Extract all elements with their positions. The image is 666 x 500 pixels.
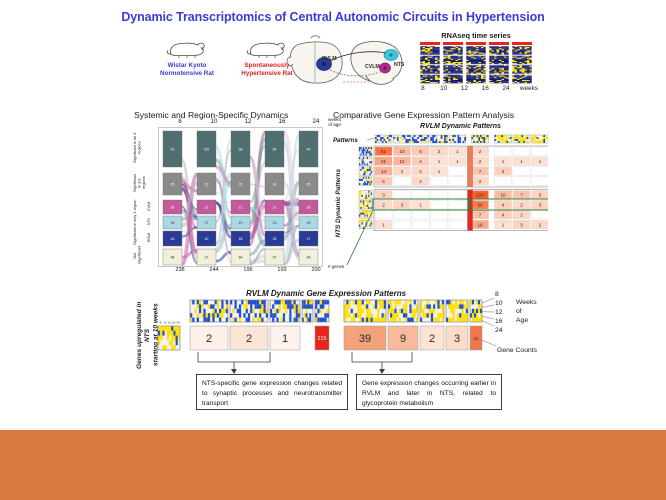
patterns-leader-line xyxy=(367,138,374,140)
matrix-cell[interactable] xyxy=(412,191,429,200)
matrix-cell-value: 2 xyxy=(401,169,404,174)
sankey-node-value: 47 xyxy=(273,255,277,259)
weeks-axis-tick: 8 xyxy=(495,291,499,298)
rnaseq-column xyxy=(489,42,509,84)
gene-count-cell[interactable]: 3 xyxy=(446,326,468,350)
gene-count-value: 2 xyxy=(246,333,252,345)
rat-icon xyxy=(165,38,209,60)
sankey-node[interactable]: 35 xyxy=(163,173,182,195)
matrix-cell[interactable]: 21 xyxy=(375,157,392,166)
sankey-gene-total: 238 xyxy=(168,267,192,273)
matrix-cell[interactable] xyxy=(394,177,411,186)
matrix-cell[interactable]: 1 xyxy=(513,157,530,166)
sankey-node-value: 35 xyxy=(171,182,175,186)
rnaseq-heatmap xyxy=(512,46,532,84)
matrix-cell[interactable] xyxy=(394,191,411,200)
matrix-cell[interactable]: 5 xyxy=(375,177,392,186)
sankey-week-tick: 16 xyxy=(272,118,292,125)
thumb-tick: 16 xyxy=(172,321,176,325)
sankey-node[interactable]: 12 xyxy=(197,200,216,214)
rnaseq-heatmap xyxy=(443,46,463,84)
matrix-cell-value: 2 xyxy=(438,149,441,154)
matrix-cell[interactable]: 1 xyxy=(532,157,549,166)
sankey-node[interactable]: 48 xyxy=(163,249,182,265)
sankey-node[interactable]: 28 xyxy=(299,200,318,214)
sankey-node-value: 18 xyxy=(239,237,243,241)
pattern-thumbnail xyxy=(359,191,372,200)
weeks-title-line: Age xyxy=(516,317,528,324)
matrix-cell[interactable]: 1 xyxy=(412,201,429,210)
rnaseq-tick: 16 xyxy=(476,85,494,92)
matrix-cell[interactable]: 2 xyxy=(431,147,448,156)
brain-diagram: RVLM CVLM NTS xyxy=(286,30,408,96)
sankey-node[interactable]: 46 xyxy=(299,249,318,265)
matrix-cell[interactable] xyxy=(449,220,466,229)
gene-counts-label: Gene Counts xyxy=(497,347,537,354)
pattern-thumbnail xyxy=(513,135,530,143)
matrix-cell[interactable] xyxy=(449,210,466,219)
matrix-cell[interactable]: 2 xyxy=(375,201,392,210)
sankey-node-value: 19 xyxy=(307,221,311,225)
matrix-cell[interactable]: 1 xyxy=(431,167,448,176)
page-title: Dynamic Transcriptomics of Central Auton… xyxy=(0,10,666,24)
matrix-cell[interactable] xyxy=(532,177,549,186)
matrix-cell[interactable] xyxy=(431,177,448,186)
pattern-thumbnail xyxy=(359,177,372,186)
weeks-title-line: of xyxy=(516,308,522,315)
matrix-cell-value: 1 xyxy=(456,149,459,154)
sankey-week-tick: 10 xyxy=(204,118,224,125)
rnaseq-tick: 12 xyxy=(456,85,474,92)
sankey-node-value: 44 xyxy=(307,147,311,151)
matrix-cell[interactable]: 12 xyxy=(394,157,411,166)
sankey-node-value: 31 xyxy=(273,205,277,209)
matrix-cell[interactable]: 61 xyxy=(375,147,392,156)
gene-count-total-left[interactable]: 215 xyxy=(315,326,329,350)
sankey-node[interactable]: 36 xyxy=(163,200,182,214)
sankey-node[interactable]: 40 xyxy=(197,231,216,246)
matrix-cell[interactable]: 1 xyxy=(495,157,512,166)
matrix-cell[interactable] xyxy=(412,210,429,219)
sankey-node-value: 36 xyxy=(171,205,175,209)
sankey-category-label: Significant in all 3 regions xyxy=(133,130,142,166)
pattern-thumbnail xyxy=(375,135,392,143)
sankey-node-value: 40 xyxy=(205,237,209,241)
sankey-node-value: 27 xyxy=(205,221,209,225)
comparative-matrix-panel: RVLM Dynamic Patterns Patterns NTS Dynam… xyxy=(333,123,548,268)
sankey-node[interactable]: 60 xyxy=(265,131,284,167)
matrix-cell-value: 3 xyxy=(401,203,404,208)
matrix-cell-value: 1 xyxy=(438,159,441,164)
sankey-node-value: 34 xyxy=(171,221,175,225)
rnaseq-column-cap xyxy=(512,42,532,45)
sankey-link xyxy=(284,238,299,241)
rnaseq-tick: 24 xyxy=(497,85,515,92)
sankey-node[interactable]: 13 xyxy=(265,216,284,229)
matrix-cell[interactable]: 2 xyxy=(472,177,489,186)
gene-count-cell[interactable]: 2 xyxy=(230,326,268,350)
thumb-tick: 8 xyxy=(160,321,162,325)
matrix-cell[interactable] xyxy=(412,220,429,229)
sankey-node[interactable]: 42 xyxy=(163,131,182,167)
pattern-thumbnail xyxy=(532,135,549,143)
matrix-cell[interactable]: 50 xyxy=(472,201,489,210)
expression-pattern-block xyxy=(190,300,228,322)
gene-count-cell[interactable]: 39 xyxy=(344,326,386,350)
matrix-cell[interactable] xyxy=(431,201,448,210)
sankey-node[interactable]: 21 xyxy=(231,200,250,214)
matrix-cell-value: 2 xyxy=(479,149,482,154)
gene-count-value: 2 xyxy=(206,333,212,345)
pattern-thumbnail xyxy=(359,167,372,176)
matrix-cell[interactable]: 2 xyxy=(513,210,530,219)
matrix-cell[interactable] xyxy=(431,210,448,219)
pattern-thumbnail xyxy=(431,135,448,143)
sankey-diagram: 4215268604435223224253612213128342719131… xyxy=(158,127,323,267)
matrix-cell[interactable]: 4 xyxy=(495,201,512,210)
weeks-title-line: Weeks xyxy=(516,299,537,306)
expression-pattern-block xyxy=(158,326,180,350)
matrix-cell[interactable] xyxy=(495,177,512,186)
footer-banner: PHYSIOLOGICAL GENOMICS © 2024 american p… xyxy=(0,430,666,500)
matrix-cell[interactable]: 5 xyxy=(412,147,429,156)
matrix-cell[interactable]: 10 xyxy=(394,147,411,156)
matrix-cell[interactable]: 7 xyxy=(472,210,489,219)
thumb-tick: 12 xyxy=(168,321,172,325)
nts-reference-thumbnail: 810121624 xyxy=(158,321,180,351)
gene-count-cell[interactable]: 2 xyxy=(420,326,444,350)
matrix-cell[interactable]: 10 xyxy=(495,191,512,200)
matrix-cell[interactable] xyxy=(375,210,392,219)
matrix-cell[interactable]: 7 xyxy=(513,191,530,200)
matrix-cell-value: 1 xyxy=(438,169,441,174)
rnaseq-axis: 810121624weeks xyxy=(414,85,538,92)
matrix-cell-value: 4 xyxy=(502,203,505,208)
matrix-cell[interactable] xyxy=(431,191,448,200)
thumb-tick: 10 xyxy=(163,321,167,325)
sankey-node-value: 27 xyxy=(205,255,209,259)
sankey-node[interactable]: 34 xyxy=(163,216,182,229)
matrix-cell[interactable] xyxy=(532,210,549,219)
matrix-cell-value: 7 xyxy=(520,193,523,198)
expression-pattern-block xyxy=(230,300,268,322)
gene-count-cell[interactable]: 2 xyxy=(190,326,228,350)
matrix-cell[interactable]: 3 xyxy=(532,201,549,210)
matrix-cell[interactable] xyxy=(449,167,466,176)
matrix-cell-value: 21 xyxy=(381,159,387,164)
rnaseq-column xyxy=(512,42,532,84)
expression-pattern-block xyxy=(420,300,444,322)
sankey-category-axis: Significant in all 3 regionsSignificant … xyxy=(131,127,159,267)
matrix-cell-value: 5 xyxy=(419,149,422,154)
matrix-cell[interactable] xyxy=(513,147,530,156)
sankey-node-value: 21 xyxy=(239,205,243,209)
matrix-cell-value: 10 xyxy=(399,149,405,154)
sankey-node-value: 22 xyxy=(205,182,209,186)
sankey-node-value: 42 xyxy=(171,147,175,151)
sankey-subregion-label: RVLM xyxy=(147,230,151,245)
matrix-cell-value: 3 xyxy=(382,193,385,198)
matrix-cell-value: 2 xyxy=(382,203,385,208)
matrix-cell[interactable] xyxy=(449,201,466,210)
matrix-cell-value: 5 xyxy=(382,179,385,184)
sankey-node[interactable]: 24 xyxy=(265,173,284,195)
sankey-node[interactable]: 43 xyxy=(163,231,182,246)
matrix-cell[interactable]: 14 xyxy=(375,167,392,176)
pattern-thumbnail xyxy=(394,135,411,143)
matrix-cell[interactable]: 1 xyxy=(449,157,466,166)
matrix-cell-value: 1 xyxy=(382,222,385,227)
pattern-thumbnail xyxy=(359,201,372,210)
matrix-cell-value: 14 xyxy=(381,169,387,174)
weeks-axis-tick: 24 xyxy=(495,327,503,334)
matrix-cell[interactable] xyxy=(394,220,411,229)
matrix-cell[interactable]: 1 xyxy=(375,220,392,229)
pattern-thumbnail xyxy=(359,220,372,229)
sankey-node-value: 32 xyxy=(239,182,243,186)
rnaseq-column xyxy=(443,42,463,84)
sankey-week-tick: 24 xyxy=(306,118,326,125)
matrix-cell-value: 3 xyxy=(520,222,523,227)
rnaseq-column xyxy=(466,42,486,84)
sankey-category-label: Not Significant xyxy=(133,248,142,264)
matrix-cell-value: 12 xyxy=(399,159,405,164)
sankey-category-label: Significant in only 1 region xyxy=(133,199,142,245)
model-shr-line2: Hypertensive Rat xyxy=(241,70,292,77)
sankey-node[interactable]: 33 xyxy=(265,231,284,246)
sankey-node-value: 28 xyxy=(307,205,311,209)
gene-count-value: 39 xyxy=(359,333,371,345)
sankey-node[interactable]: 31 xyxy=(265,200,284,214)
sankey-node-value: 60 xyxy=(273,147,277,151)
rnaseq-heatmap-row xyxy=(414,42,538,84)
matrix-cell-value: 1 xyxy=(539,159,542,164)
sankey-node-value: 25 xyxy=(307,182,311,186)
callout-right: Gene expression changes occurring earlie… xyxy=(356,374,502,410)
rnaseq-panel: RNAseq time series 810121624weeks xyxy=(414,31,538,92)
matrix-cell-value: 7 xyxy=(479,169,482,174)
rnaseq-heatmap xyxy=(420,46,440,84)
matrix-cell[interactable]: 3 xyxy=(375,191,392,200)
matrix-cell[interactable]: 4 xyxy=(495,167,512,176)
rnaseq-heatmap xyxy=(489,46,509,84)
gene-count-cell[interactable]: 9 xyxy=(388,326,418,350)
sankey-node[interactable]: 19 xyxy=(299,216,318,229)
rnaseq-column-cap xyxy=(443,42,463,45)
matrix-cell-value: 3 xyxy=(539,193,542,198)
rnaseq-heatmap xyxy=(466,46,486,84)
matrix-cell-value: 1 xyxy=(502,222,505,227)
sankey-node-value: 68 xyxy=(239,147,243,151)
matrix-cell[interactable]: 2 xyxy=(532,220,549,229)
sankey-node[interactable]: 44 xyxy=(299,131,318,167)
expression-pattern-block xyxy=(302,300,313,322)
model-shr-line1: Spontaneously xyxy=(244,62,289,69)
matrix-cell-value: 7 xyxy=(479,212,482,217)
brain-label-nts: NTS xyxy=(394,62,404,68)
sankey-link xyxy=(250,261,265,262)
matrix-cell[interactable]: 2 xyxy=(513,201,530,210)
expression-pattern-block xyxy=(344,300,386,322)
matrix-cell-value: 2 xyxy=(520,203,523,208)
matrix-cell-value: 50 xyxy=(477,203,483,208)
gene-count-value: 2 xyxy=(429,333,435,345)
sankey-node[interactable]: 68 xyxy=(231,131,250,167)
sankey-node-value: 13 xyxy=(273,221,277,225)
pattern-thumbnail xyxy=(449,135,466,143)
expression-pattern-block xyxy=(470,300,482,322)
matrix-cell[interactable] xyxy=(449,177,466,186)
matrix-cell[interactable]: 1 xyxy=(495,220,512,229)
pattern-thumbnail xyxy=(495,135,512,143)
matrix-cell[interactable]: 1 xyxy=(431,157,448,166)
matrix-cell-value: 10 xyxy=(500,193,506,198)
thumb-tick: 24 xyxy=(176,321,180,325)
sankey-node-value: 46 xyxy=(307,255,311,259)
gene-count-cell[interactable]: 1 xyxy=(270,326,300,350)
matrix-cell-value: 1 xyxy=(456,159,459,164)
matrix-cell[interactable]: 2 xyxy=(412,177,429,186)
sankey-node[interactable]: 32 xyxy=(231,173,250,195)
matrix-cell-value: 3 xyxy=(539,203,542,208)
pattern-thumbnail xyxy=(359,157,372,166)
section-header-matrix: Comparative Gene Expression Pattern Anal… xyxy=(333,110,514,120)
sankey-node[interactable]: 64 xyxy=(231,249,250,265)
model-wistar-kyoto: Wistar Kyoto Normotensive Rat xyxy=(148,38,226,78)
matrix-cell[interactable]: 2 xyxy=(394,167,411,176)
matrix-cell[interactable] xyxy=(449,191,466,200)
rnaseq-tick: 10 xyxy=(435,85,453,92)
matrix-cell[interactable] xyxy=(532,167,549,176)
sankey-node-value: 64 xyxy=(239,255,243,259)
pattern-thumbnail xyxy=(359,210,372,219)
matrix-cell[interactable] xyxy=(394,210,411,219)
sankey-node[interactable]: 27 xyxy=(299,231,318,246)
sankey-category-label: Significant in 2/3 regions xyxy=(133,172,142,194)
sankey-gene-total: 200 xyxy=(304,267,328,273)
matrix-cell[interactable]: 7 xyxy=(472,167,489,176)
matrix-cell[interactable] xyxy=(532,147,549,156)
sankey-week-tick: 8 xyxy=(170,118,190,125)
matrix-cell[interactable]: 18 xyxy=(472,220,489,229)
sankey-node-value: 33 xyxy=(273,237,277,241)
sankey-gene-total: 196 xyxy=(236,267,260,273)
weeks-axis-tick: 12 xyxy=(495,309,503,316)
matrix-cell[interactable]: 3 xyxy=(513,220,530,229)
matrix-cell[interactable]: 2 xyxy=(412,167,429,176)
matrix-cell[interactable]: 4 xyxy=(412,157,429,166)
matrix-cell[interactable]: 3 xyxy=(394,201,411,210)
sankey-gene-totals: 238244196193200# genes xyxy=(158,267,348,279)
sankey-node[interactable]: 47 xyxy=(265,249,284,265)
matrix-cell-value: 4 xyxy=(502,169,505,174)
model-wky-line1: Wistar Kyoto xyxy=(168,62,207,69)
expression-pattern-block xyxy=(446,300,468,322)
rat-icon xyxy=(245,38,289,60)
sankey-week-tick: 12 xyxy=(238,118,258,125)
expression-pattern-block xyxy=(315,300,329,322)
sankey-node[interactable]: 152 xyxy=(197,131,216,167)
brain-label-cvlm: CVLM xyxy=(365,64,380,70)
matrix-cell-value: 4 xyxy=(419,159,422,164)
matrix-cell[interactable] xyxy=(495,147,512,156)
model-wky-line2: Normotensive Rat xyxy=(160,70,214,77)
sankey-gene-total: 193 xyxy=(270,267,294,273)
gene-count-value: 1 xyxy=(282,333,288,345)
pattern-thumbnail xyxy=(472,135,489,143)
callout-left: NTS-specific gene expression changes rel… xyxy=(196,374,348,410)
bottom-pattern-strip: 8101216242212153992341 xyxy=(152,296,522,376)
weeks-axis-tick: 10 xyxy=(495,300,503,307)
rnaseq-title: RNAseq time series xyxy=(414,31,538,40)
brain-label-rvlm: RVLM xyxy=(322,56,337,62)
matrix-cell[interactable]: 1 xyxy=(449,147,466,156)
sankey-subregion-label: CVLM xyxy=(147,199,151,213)
matrix-cell-value: 4 xyxy=(502,212,505,217)
sankey-node-value: 43 xyxy=(171,237,175,241)
matrix-cell-value: 2 xyxy=(539,222,542,227)
sankey-node-value: 19 xyxy=(239,221,243,225)
matrix-cell-value: 2 xyxy=(479,179,482,184)
pattern-thumbnail xyxy=(412,135,429,143)
model-wky-label: Wistar Kyoto Normotensive Rat xyxy=(148,62,226,78)
sankey-node-value: 152 xyxy=(204,147,210,151)
rnaseq-column-cap xyxy=(420,42,440,45)
gene-count-value: 3 xyxy=(454,333,460,345)
sankey-node[interactable]: 25 xyxy=(299,173,318,195)
sankey-node[interactable]: 27 xyxy=(197,249,216,265)
sankey-node[interactable]: 22 xyxy=(197,173,216,195)
matrix-cell[interactable]: 2 xyxy=(472,147,489,156)
sankey-node-value: 24 xyxy=(273,182,277,186)
matrix-cell-value: 2 xyxy=(479,159,482,164)
matrix-cell-value: 61 xyxy=(381,149,387,154)
sankey-node[interactable]: 27 xyxy=(197,216,216,229)
matrix-cell[interactable]: 124 xyxy=(472,191,489,200)
poster-canvas: Dynamic Transcriptomics of Central Auton… xyxy=(0,0,666,500)
matrix-cell-value: 2 xyxy=(419,179,422,184)
expression-pattern-block xyxy=(270,300,300,322)
pattern-thumbnail xyxy=(359,147,372,156)
matrix-cell-value: 1 xyxy=(502,159,505,164)
expression-pattern-block xyxy=(388,300,418,322)
sankey-gene-total: 244 xyxy=(202,267,226,273)
sankey-node-value: 48 xyxy=(171,255,175,259)
gene-count-total-right[interactable]: 41 xyxy=(470,326,482,350)
matrix-cell[interactable] xyxy=(431,220,448,229)
matrix-cell[interactable]: 4 xyxy=(495,210,512,219)
matrix-cell-value: 1 xyxy=(419,203,422,208)
gene-count-total-value: 41 xyxy=(473,336,479,342)
bottom-ylab-line1: Genes upregulated in NTS xyxy=(136,301,151,368)
weeks-axis-tick: 16 xyxy=(495,318,503,325)
matrix-cell-value: 1 xyxy=(520,159,523,164)
matrix-cell-value: 124 xyxy=(476,193,484,198)
matrix-cell-value: 2 xyxy=(520,212,523,217)
sankey-node[interactable]: 19 xyxy=(231,216,250,229)
matrix-cell[interactable] xyxy=(513,177,530,186)
matrix-cell[interactable] xyxy=(513,167,530,176)
matrix-cell[interactable]: 3 xyxy=(532,191,549,200)
sankey-node[interactable]: 18 xyxy=(231,231,250,246)
gene-count-value: 9 xyxy=(400,333,406,345)
matrix-cell[interactable]: 2 xyxy=(472,157,489,166)
brainstem-illustration xyxy=(286,30,408,96)
rnaseq-column-cap xyxy=(489,42,509,45)
rnaseq-unit: weeks xyxy=(520,85,538,92)
rnaseq-tick: 8 xyxy=(414,85,432,92)
sankey-node-value: 27 xyxy=(307,237,311,241)
